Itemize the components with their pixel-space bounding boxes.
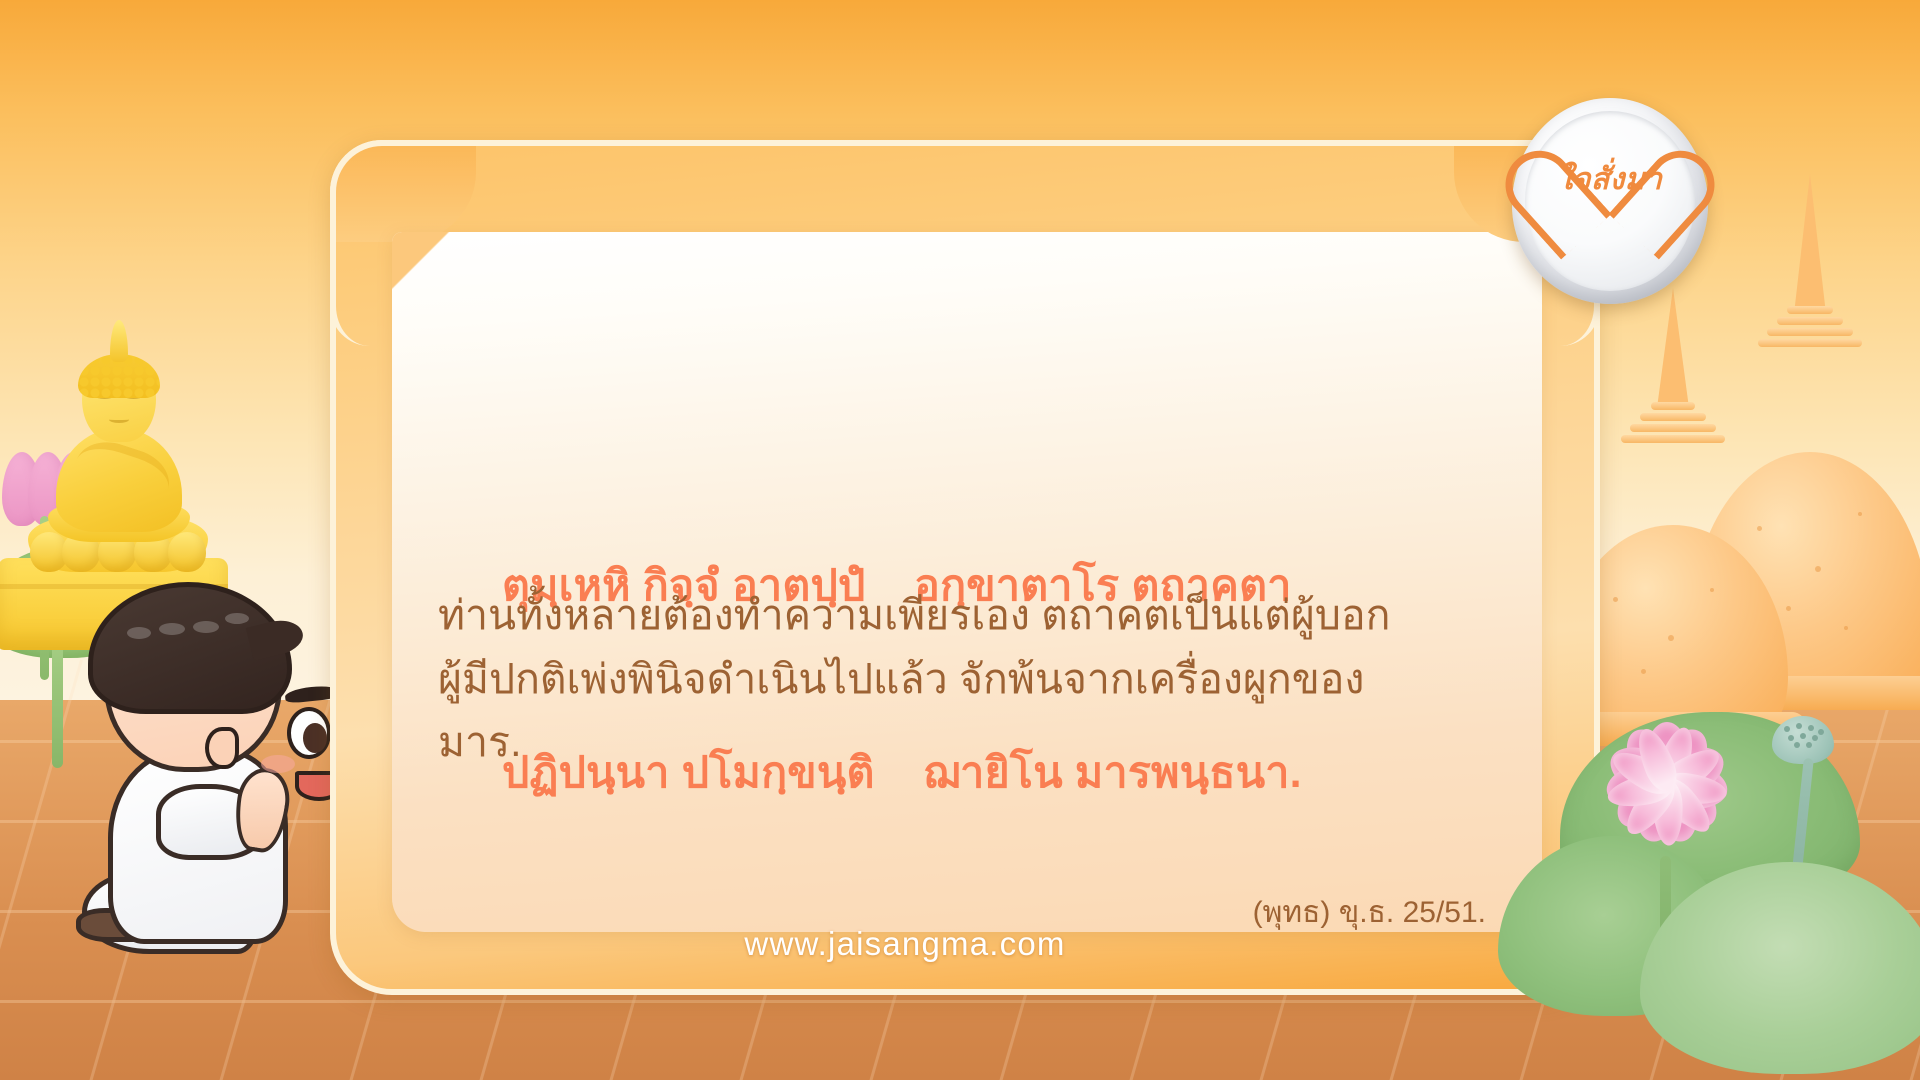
seed-pod-hole <box>1794 742 1800 748</box>
buddha-ketumala-flame <box>110 320 128 362</box>
pink-lotus-flower-icon <box>1572 698 1762 878</box>
quote-card-inner-panel: ตุมฺเหหิ กิจฺจํ อาตปฺปํ อกฺขาตาโร ตถาคตา… <box>392 232 1542 932</box>
boy-eye <box>287 707 331 759</box>
seed-pod-hole <box>1808 725 1814 731</box>
thai-translation-line-2: ผู้มีปกติเพ่งพินิจดำเนินไปแล้ว จักพ้นจาก… <box>438 648 1498 712</box>
boy-hair <box>88 582 292 714</box>
seed-pod-hole <box>1796 723 1802 729</box>
boy-ear <box>205 727 239 769</box>
thai-translation-line-1: ท่านทั้งหลายต้องทำความเพียรเอง ตถาคตเป็น… <box>438 584 1498 648</box>
seed-pod-hole <box>1818 729 1824 735</box>
seed-pod-hole <box>1812 735 1818 741</box>
poster-canvas: ตุมฺเหหิ กิจฺจํ อาตปฺปํ อกฺขาตาโร ตถาคตา… <box>0 0 1920 1080</box>
card-corner-notch-left <box>330 238 386 346</box>
praying-boy-character <box>30 570 310 970</box>
thai-translation: ท่านทั้งหลายต้องทำความเพียรเอง ตถาคตเป็น… <box>438 584 1498 775</box>
logo-brand-text: ใจสั่งมา <box>1512 156 1708 203</box>
pagoda-rings <box>1618 402 1728 446</box>
pagoda-rings <box>1752 306 1867 350</box>
seed-pod-hole <box>1806 742 1812 748</box>
seed-pod-hole <box>1788 735 1794 741</box>
boy-blush <box>261 755 295 773</box>
thai-translation-line-3: มาร. <box>438 711 1498 775</box>
brand-logo-badge[interactable]: ใจสั่งมา <box>1512 98 1708 304</box>
seed-pod-hole <box>1800 733 1806 739</box>
seed-pod-hole <box>1784 726 1790 732</box>
buddha-body <box>56 428 182 532</box>
pagoda-spire <box>1794 174 1826 314</box>
website-url[interactable]: www.jaisangma.com <box>336 925 1594 963</box>
pagoda-spire <box>1657 288 1689 408</box>
quote-card-frame: ตุมฺเหหิ กิจฺจํ อาตปฺปํ อกฺขาตาโร ตถาคตา… <box>330 140 1600 995</box>
